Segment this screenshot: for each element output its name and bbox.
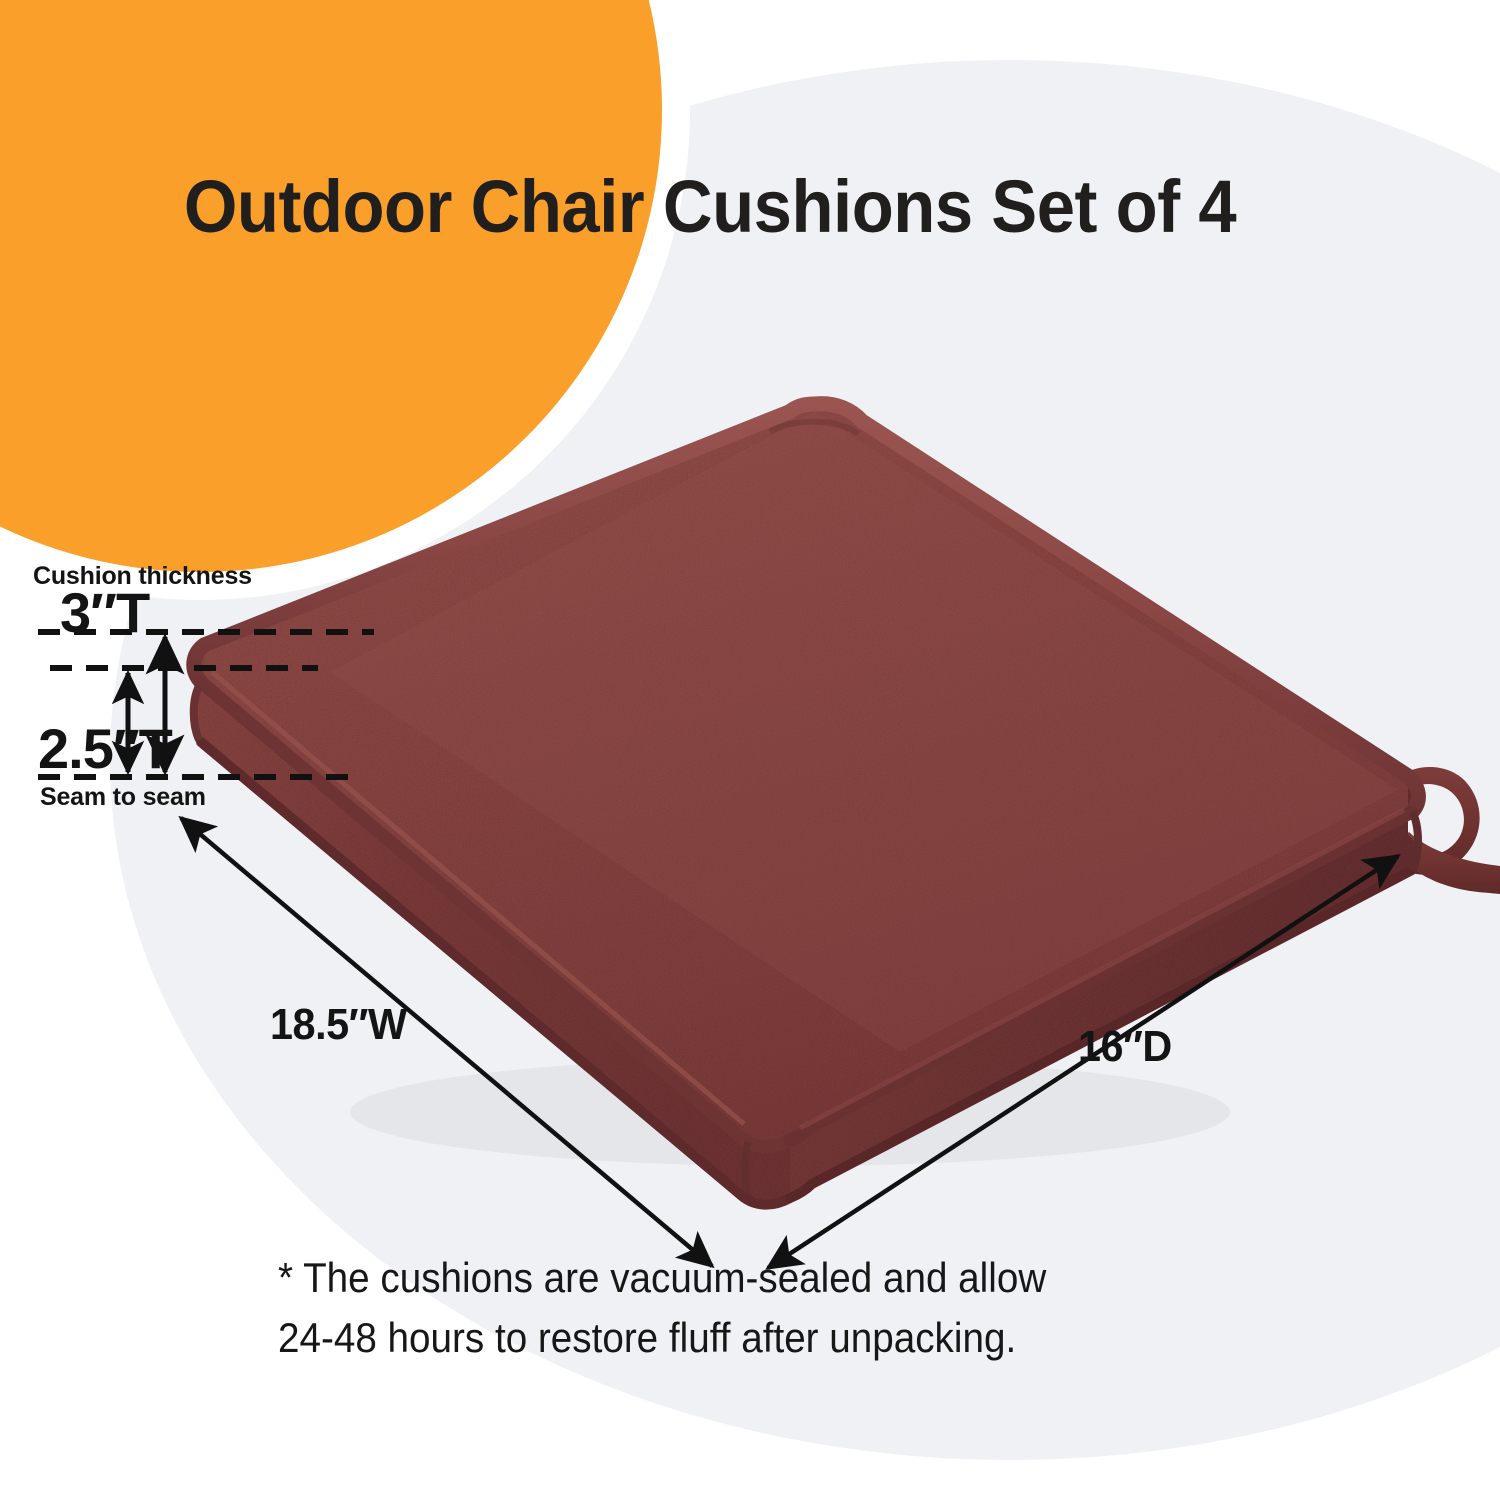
label-seam-to-seam: Seam to seam xyxy=(40,783,206,812)
label-depth: 16″D xyxy=(1078,1022,1172,1072)
footnote-text: * The cushions are vacuum-sealed and all… xyxy=(278,1248,1198,1367)
page-title: Outdoor Chair Cushions Set of 4 xyxy=(50,168,1371,246)
infographic-canvas: Outdoor Chair Cushions Set of 4 Cushion … xyxy=(0,0,1500,1500)
label-thickness-seam: 2.5″T xyxy=(38,716,172,781)
width-dimension-arrow xyxy=(181,818,712,1266)
label-width: 18.5″W xyxy=(270,1000,407,1050)
label-thickness-total: 3″T xyxy=(60,580,149,645)
